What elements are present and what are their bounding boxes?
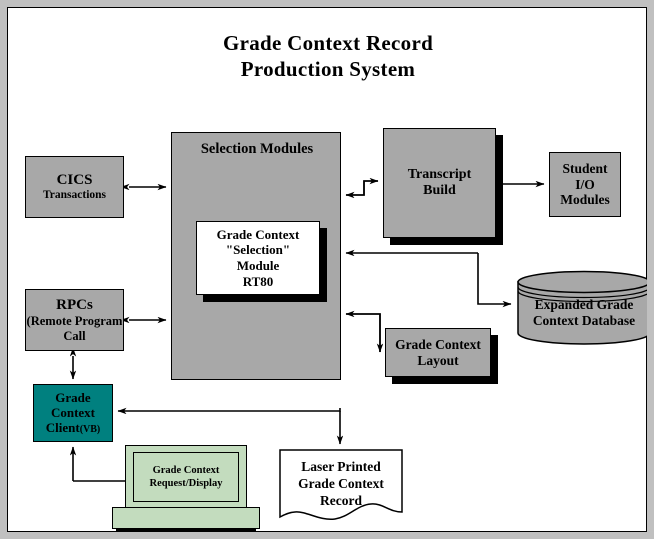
node-laser-printed-record[interactable]: Laser Printed Grade Context Record [279,449,403,529]
rt80-line4: RT80 [243,274,274,289]
studentio-line3: Modules [560,192,610,207]
monitor-line2: Request/Display [150,478,223,489]
client-vb-suffix: (VB) [80,424,101,435]
db-line2: Context Database [533,313,635,328]
studentio-line1: Student [562,161,607,176]
client-line1: Grade [55,390,90,405]
studentio-line2: I/O [575,177,595,192]
node-selection-module-rt80[interactable]: Grade Context "Selection" Module RT80 [196,221,320,295]
client-line3: Client [46,420,80,435]
node-grade-context-layout-text: Grade Context Layout [395,337,481,368]
wire-transcript-to-database [346,253,511,304]
rt80-line2: "Selection" [226,242,290,257]
node-grade-context-client[interactable]: Grade Context Client(VB) [33,384,113,442]
layout-line1: Grade Context [395,337,481,352]
printdoc-line3: Record [320,493,362,508]
diagram-inner-frame: Grade Context Record Production System [7,7,647,532]
node-rpcs-line2: (Remote Program [26,314,123,328]
layout-line2: Layout [417,353,458,368]
node-expanded-grade-context-database[interactable]: Expanded Grade Context Database [516,270,652,345]
diagram-canvas: Grade Context Record Production System [0,0,654,539]
transcript-line1: Transcript [408,167,472,182]
client-line2: Context [51,405,95,420]
node-rpcs-line3: Call [26,329,123,343]
node-rpcs-text: RPCs (Remote Program Call [26,297,123,343]
node-rpcs-title: RPCs [56,297,93,313]
rt80-line1: Grade Context [217,227,300,242]
monitor-screen-text: Grade Context Request/Display [150,464,223,490]
node-student-io-modules[interactable]: Student I/O Modules [549,152,621,217]
node-student-io-text: Student I/O Modules [560,161,610,208]
node-cics-text: CICS Transactions [43,172,106,202]
node-laser-printed-record-text: Laser Printed Grade Context Record [279,459,403,510]
monitor-screen[interactable]: Grade Context Request/Display [133,452,239,502]
node-selection-module-rt80-text: Grade Context "Selection" Module RT80 [217,227,300,289]
node-monitor[interactable]: Grade Context Request/Display [112,445,262,531]
wire-layout-to-client [118,408,340,411]
node-selection-modules-label: Selection Modules [172,141,342,158]
printdoc-line1: Laser Printed [301,459,381,474]
node-transcript-build[interactable]: Transcript Build [383,128,496,238]
node-transcript-build-text: Transcript Build [408,167,472,199]
monitor-foot-line [116,529,256,531]
wire-selection-to-layout [346,314,380,352]
monitor-line1: Grade Context [153,465,220,476]
node-grade-context-layout[interactable]: Grade Context Layout [385,328,491,377]
node-cics-title: CICS [57,172,93,188]
node-database-label: Expanded Grade Context Database [516,297,652,329]
monitor-base [112,507,260,529]
rt80-line3: Module [237,258,280,273]
node-rpcs[interactable]: RPCs (Remote Program Call [25,289,124,351]
node-grade-context-client-text: Grade Context Client(VB) [46,390,101,436]
db-line1: Expanded Grade [535,297,634,312]
node-cics[interactable]: CICS Transactions [25,156,124,218]
transcript-line2: Build [423,183,456,198]
wire-selection-to-transcript [346,181,378,195]
node-cics-subtitle: Transactions [43,189,106,202]
printdoc-line2: Grade Context [298,476,384,491]
